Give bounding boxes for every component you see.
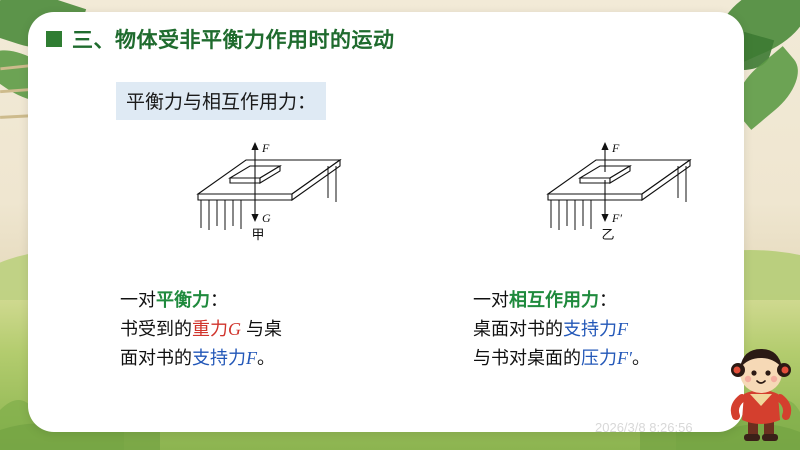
balanced-line1-prefix: 一对 xyxy=(120,290,156,310)
balanced-line2-prefix: 书受到的 xyxy=(120,319,192,339)
interaction-line1-keyword: 相互作用力 xyxy=(509,290,599,310)
content-card: 三、物体受非平衡力作用时的运动 平衡力与相互作用力： xyxy=(28,12,744,432)
interaction-line-3: 与书对桌面的压力F′。 xyxy=(473,344,650,373)
interaction-line3-suffix: 。 xyxy=(632,348,650,368)
balanced-line-3: 面对书的支持力F。 xyxy=(120,344,282,373)
balanced-line2-keyword: 重力 xyxy=(192,319,228,339)
balanced-line3-symbol: F xyxy=(246,348,257,368)
interaction-line2-symbol: F xyxy=(617,319,628,339)
figure-yi-label-up: F xyxy=(611,142,620,155)
balanced-line2-suffix: 与桌 xyxy=(241,319,282,339)
text-block-balanced-forces: 一对平衡力： 书受到的重力G 与桌 面对书的支持力F。 xyxy=(120,286,282,373)
figure-yi-label-down: F′ xyxy=(611,211,622,225)
interaction-line1-suffix: ： xyxy=(599,290,617,310)
balanced-line3-suffix: 。 xyxy=(257,348,275,368)
balanced-line3-prefix: 面对书的 xyxy=(120,348,192,368)
interaction-line2-keyword: 支持力 xyxy=(563,319,617,339)
figure-yi-caption: 乙 xyxy=(588,224,628,243)
interaction-line3-keyword: 压力 xyxy=(581,348,617,368)
subtitle-box: 平衡力与相互作用力： xyxy=(116,82,326,120)
balanced-line2-symbol: G xyxy=(228,319,241,339)
slide-title: 三、物体受非平衡力作用时的运动 xyxy=(72,24,395,54)
figure-jia-label-down: G xyxy=(262,211,271,225)
text-block-interaction-forces: 一对相互作用力： 桌面对书的支持力F 与书对桌面的压力F′。 xyxy=(473,286,650,373)
balanced-line1-suffix: ： xyxy=(210,290,228,310)
slide-root: 三、物体受非平衡力作用时的运动 平衡力与相互作用力： xyxy=(0,0,800,450)
balanced-line-1: 一对平衡力： xyxy=(120,286,282,315)
title-bullet-square-icon xyxy=(46,31,62,47)
interaction-line-1: 一对相互作用力： xyxy=(473,286,650,315)
figure-jia-label-up: F xyxy=(261,142,270,155)
interaction-line1-prefix: 一对 xyxy=(473,290,509,310)
mascot-character xyxy=(728,346,794,442)
balanced-line-2: 书受到的重力G 与桌 xyxy=(120,315,282,344)
balanced-line1-keyword: 平衡力 xyxy=(156,290,210,310)
interaction-line-2: 桌面对书的支持力F xyxy=(473,315,650,344)
timestamp-label: 2026/3/8 8:26:56 xyxy=(595,420,693,435)
balanced-line3-keyword: 支持力 xyxy=(192,348,246,368)
interaction-line3-prefix: 与书对桌面的 xyxy=(473,348,581,368)
interaction-line2-prefix: 桌面对书的 xyxy=(473,319,563,339)
interaction-line3-symbol: F′ xyxy=(617,348,632,368)
figure-jia-caption: 甲 xyxy=(238,224,278,243)
slide-title-row: 三、物体受非平衡力作用时的运动 xyxy=(46,24,395,54)
